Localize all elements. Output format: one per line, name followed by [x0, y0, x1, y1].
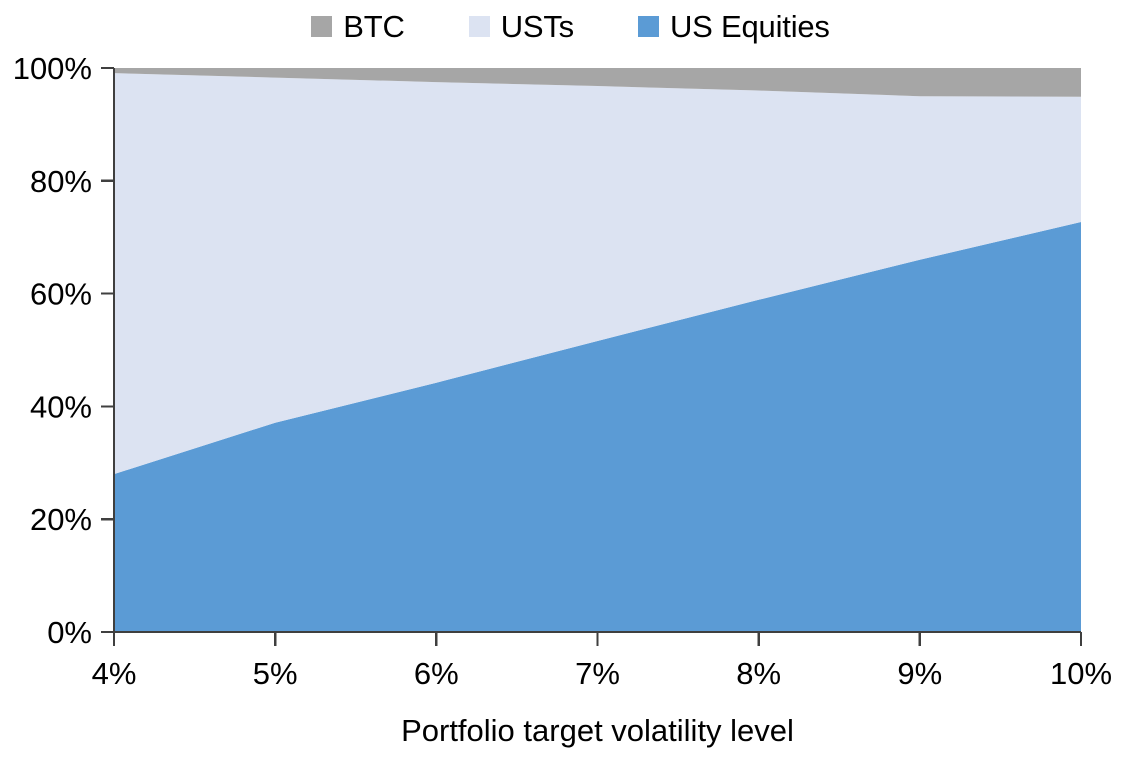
- y-axis-ticks: 0%20%40%60%80%100%: [13, 51, 114, 650]
- x-tick-label: 8%: [736, 656, 781, 691]
- x-tick-label: 5%: [253, 656, 298, 691]
- y-tick-label: 80%: [30, 164, 92, 199]
- y-tick-label: 20%: [30, 502, 92, 537]
- stacked-area-chart: BTC USTs US Equities 0%20%40%60%80%100% …: [0, 0, 1141, 763]
- y-tick-label: 40%: [30, 389, 92, 424]
- x-axis-ticks: 4%5%6%7%8%9%10%: [92, 632, 1112, 691]
- x-tick-label: 9%: [897, 656, 942, 691]
- plot-area-wrapper: 0%20%40%60%80%100% 4%5%6%7%8%9%10% Portf…: [0, 0, 1141, 763]
- y-tick-label: 60%: [30, 277, 92, 312]
- x-tick-label: 4%: [92, 656, 137, 691]
- x-tick-label: 10%: [1050, 656, 1112, 691]
- plot-svg: 0%20%40%60%80%100% 4%5%6%7%8%9%10% Portf…: [0, 0, 1141, 763]
- area-series-group: [114, 68, 1081, 632]
- y-tick-label: 0%: [47, 615, 92, 650]
- x-axis-title: Portfolio target volatility level: [401, 713, 794, 748]
- x-tick-label: 7%: [575, 656, 620, 691]
- y-tick-label: 100%: [13, 51, 92, 86]
- x-tick-label: 6%: [414, 656, 459, 691]
